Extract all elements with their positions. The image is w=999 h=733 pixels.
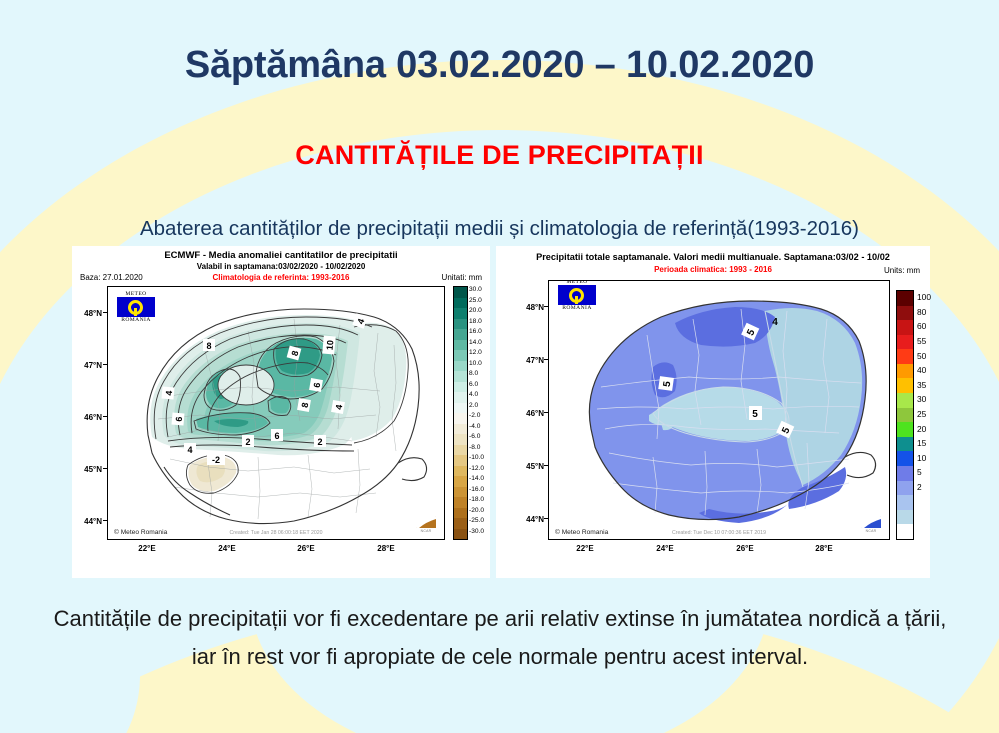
colorbar-swatch (454, 508, 467, 519)
svg-text:4: 4 (772, 317, 778, 328)
colorbar-label: 8.0 (469, 370, 478, 377)
ncar-logo-right: NCAR (858, 515, 884, 535)
colorbar-label: 40 (917, 365, 926, 375)
colorbar-label: 50 (917, 351, 926, 361)
section-caption: Abaterea cantităților de precipitații me… (0, 217, 999, 241)
colorbar-swatch (897, 481, 913, 496)
colorbar-swatch (897, 393, 913, 408)
ncar-icon-right (860, 515, 882, 529)
right-lat-label-48: 48°N (510, 303, 544, 312)
colorbar-swatch (454, 298, 467, 309)
left-map-graphic: 8 8 10 6 4 4 4 6 8 6 2 2 4 -2 (108, 287, 444, 539)
colorbar-swatch (897, 510, 913, 525)
right-panel-units: Units: mm (884, 266, 920, 275)
right-created-timestamp: Created: Tue Dec 10 07:00:36 EET 2019 (549, 530, 889, 536)
ncar-label: NCAR (413, 529, 439, 533)
colorbar-swatch (454, 445, 467, 456)
svg-text:2: 2 (245, 437, 250, 447)
logo-badge-icon-right (558, 285, 596, 305)
colorbar-swatch (897, 466, 913, 481)
colorbar-label: -30.0 (469, 528, 484, 535)
left-lat-label-48: 48°N (72, 309, 102, 318)
right-lon-label-24: 24°E (645, 544, 685, 553)
svg-text:2: 2 (317, 437, 322, 447)
colorbar-swatch (454, 308, 467, 319)
colorbar-label: -18.0 (469, 496, 484, 503)
precipitation-anomaly-panel: ECMWF - Media anomaliei cantitatilor de … (72, 246, 490, 578)
colorbar-label: 80 (917, 307, 926, 317)
left-lon-label-26: 26°E (286, 544, 326, 553)
colorbar-label: 100 (917, 292, 931, 302)
colorbar-label: 60 (917, 321, 926, 331)
colorbar-swatch (897, 495, 913, 510)
left-map: 8 8 10 6 4 4 4 6 8 6 2 2 4 -2 (107, 286, 445, 540)
colorbar-label: -20.0 (469, 507, 484, 514)
precipitation-climatology-panel: Precipitatii totale saptamanale. Valori … (496, 246, 930, 578)
right-lat-label-47: 47°N (510, 356, 544, 365)
colorbar-label: 12.0 (469, 349, 482, 356)
colorbar-swatch (454, 487, 467, 498)
colorbar-label: 25 (917, 409, 926, 419)
map-panels: ECMWF - Media anomaliei cantitatilor de … (72, 246, 930, 578)
colorbar-swatch (454, 382, 467, 393)
colorbar-swatch (454, 434, 467, 445)
colorbar-swatch (897, 335, 913, 350)
colorbar-label: 15 (917, 438, 926, 448)
colorbar-swatch (454, 518, 467, 529)
right-lon-label-22: 22°E (565, 544, 605, 553)
svg-text:8: 8 (206, 341, 211, 351)
right-lon-label-28: 28°E (804, 544, 844, 553)
logo-badge-icon (117, 297, 155, 317)
colorbar-label: -16.0 (469, 486, 484, 493)
colorbar-label: 18.0 (469, 318, 482, 325)
svg-text:6: 6 (274, 431, 279, 441)
right-map-graphic: 5 5 5 5 4 (549, 281, 889, 539)
colorbar-swatch (454, 392, 467, 403)
left-lat-label-44: 44°N (72, 517, 102, 526)
page-title: Săptămâna 03.02.2020 – 10.02.2020 (0, 44, 999, 87)
left-lon-label-22: 22°E (127, 544, 167, 553)
left-lat-label-47: 47°N (72, 361, 102, 370)
right-panel-climatology: Perioada climatica: 1993 - 2016 (496, 265, 930, 274)
svg-text:4: 4 (164, 390, 174, 396)
colorbar-label: 30.0 (469, 286, 482, 293)
colorbar-swatch (897, 320, 913, 335)
svg-text:6: 6 (174, 416, 184, 422)
colorbar-label: 30 (917, 394, 926, 404)
colorbar-swatch (454, 350, 467, 361)
ncar-logo: NCAR (413, 515, 439, 535)
colorbar-swatch (897, 437, 913, 452)
colorbar-swatch (454, 529, 467, 540)
colorbar-label: 10 (917, 453, 926, 463)
meteo-romania-logo-right: METEO ROMANIA (555, 280, 599, 313)
logo-bottom-label-right: ROMANIA (555, 305, 599, 311)
colorbar-swatch (897, 364, 913, 379)
colorbar-label: 2.0 (469, 402, 478, 409)
meteo-romania-logo: METEO ROMANIA (114, 291, 158, 325)
colorbar-label: -8.0 (469, 444, 480, 451)
colorbar-swatch (454, 455, 467, 466)
left-lat-label-45: 45°N (72, 465, 102, 474)
right-colorbar (896, 290, 914, 540)
left-panel-base-date: Baza: 27.01.2020 (80, 273, 143, 282)
colorbar-swatch (454, 413, 467, 424)
colorbar-swatch (454, 361, 467, 372)
colorbar-label: -2.0 (469, 412, 480, 419)
colorbar-label: 16.0 (469, 328, 482, 335)
colorbar-label: 55 (917, 336, 926, 346)
colorbar-swatch (454, 340, 467, 351)
right-map: 5 5 5 5 4 METEO ROMANIA © Meteo Romania … (548, 280, 890, 540)
colorbar-swatch (897, 306, 913, 321)
colorbar-swatch (454, 287, 467, 298)
svg-text:-2: -2 (212, 455, 220, 465)
right-panel-title: Precipitatii totale saptamanale. Valori … (496, 252, 930, 262)
colorbar-swatch (454, 329, 467, 340)
colorbar-label: 25.0 (469, 297, 482, 304)
colorbar-swatch (454, 371, 467, 382)
slide-subtitle: CANTITĂȚILE DE PRECIPITAȚII (0, 140, 999, 171)
left-panel-units: Unitati: mm (442, 273, 482, 282)
left-lon-label-28: 28°E (366, 544, 406, 553)
colorbar-swatch (897, 451, 913, 466)
left-created-timestamp: Created: Tue Jan 28 06:00:18 EET 2020 (108, 530, 444, 536)
colorbar-label: -25.0 (469, 517, 484, 524)
colorbar-label: 2 (917, 482, 922, 492)
footer-description: Cantitățile de precipitații vor fi exced… (40, 600, 960, 676)
colorbar-swatch (897, 408, 913, 423)
left-panel-subtitle: Valabil in saptamana:03/02/2020 - 10/02/… (72, 262, 490, 271)
colorbar-swatch (454, 424, 467, 435)
colorbar-swatch (897, 422, 913, 437)
left-lat-label-46: 46°N (72, 413, 102, 422)
ncar-icon (415, 515, 437, 529)
colorbar-swatch (897, 524, 913, 539)
left-lon-label-24: 24°E (207, 544, 247, 553)
colorbar-swatch (454, 466, 467, 477)
right-lat-label-46: 46°N (510, 409, 544, 418)
colorbar-swatch (454, 403, 467, 414)
right-lon-label-26: 26°E (725, 544, 765, 553)
colorbar-label: 4.0 (469, 391, 478, 398)
colorbar-label: 10.0 (469, 360, 482, 367)
colorbar-label: -10.0 (469, 454, 484, 461)
colorbar-swatch (897, 378, 913, 393)
colorbar-swatch (454, 319, 467, 330)
right-lat-label-44: 44°N (510, 515, 544, 524)
logo-bottom-label: ROMANIA (114, 317, 158, 323)
ncar-label-right: NCAR (858, 529, 884, 533)
colorbar-label: -12.0 (469, 465, 484, 472)
colorbar-label: 14.0 (469, 339, 482, 346)
colorbar-swatch (454, 497, 467, 508)
colorbar-label: 35 (917, 380, 926, 390)
colorbar-swatch (897, 291, 913, 306)
slide: Săptămâna 03.02.2020 – 10.02.2020 CANTIT… (0, 0, 999, 733)
right-lat-label-45: 45°N (510, 462, 544, 471)
colorbar-swatch (454, 476, 467, 487)
colorbar-label: 6.0 (469, 381, 478, 388)
colorbar-label: -4.0 (469, 423, 480, 430)
colorbar-swatch (897, 349, 913, 364)
colorbar-label: -6.0 (469, 433, 480, 440)
svg-text:5: 5 (752, 409, 758, 420)
colorbar-label: 20 (917, 424, 926, 434)
colorbar-label: 5 (917, 467, 922, 477)
svg-text:10: 10 (325, 340, 336, 351)
colorbar-label: 20.0 (469, 307, 482, 314)
svg-text:4: 4 (187, 445, 192, 455)
colorbar-label: -14.0 (469, 475, 484, 482)
left-colorbar (453, 286, 468, 540)
left-panel-title: ECMWF - Media anomaliei cantitatilor de … (72, 250, 490, 261)
